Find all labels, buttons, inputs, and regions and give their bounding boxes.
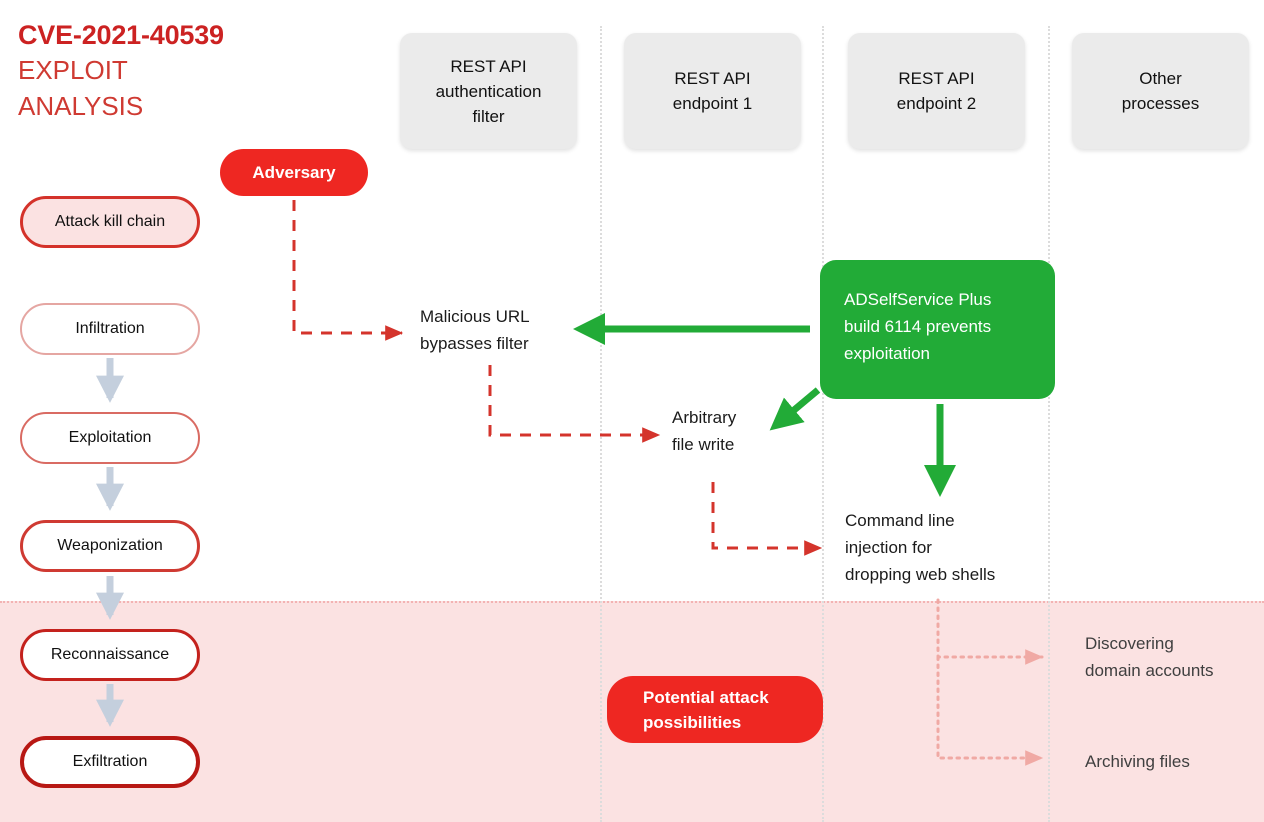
- kill-chain-stage-label: Exploitation: [69, 429, 152, 447]
- green-arrow-mitigation-to-file-write: [775, 390, 818, 426]
- process-box-line-2: endpoint 2: [897, 91, 976, 116]
- mitigation-box-adselfservice-plus[interactable]: ADSelfService Plus build 6114 prevents e…: [820, 260, 1055, 399]
- process-box-line-1: Other: [1122, 66, 1199, 91]
- process-box-line-2: authentication: [436, 79, 542, 104]
- post-exploitation-line-1: Discovering: [1085, 630, 1214, 657]
- adversary-label: Adversary: [252, 163, 335, 183]
- flow-step-line-2: bypasses filter: [420, 330, 530, 357]
- process-box-line-1: REST API: [436, 54, 542, 79]
- kill-chain-stage-label: Infiltration: [75, 320, 144, 338]
- kill-chain-stage-weaponization[interactable]: Weaponization: [20, 520, 200, 572]
- flow-step-line-2: injection for: [845, 534, 995, 561]
- process-box-line-2: processes: [1122, 91, 1199, 116]
- post-exploitation-discovering-domain-accounts: Discovering domain accounts: [1085, 630, 1214, 684]
- process-box-line-1: REST API: [897, 66, 976, 91]
- flow-step-line-1: Arbitrary: [672, 404, 736, 431]
- title-subtitle-two: ANALYSIS: [18, 88, 358, 124]
- flow-step-line-3: dropping web shells: [845, 561, 995, 588]
- post-exploitation-line-2: domain accounts: [1085, 657, 1214, 684]
- process-box-rest-api-authentication-filter[interactable]: REST API authentication filter: [400, 33, 577, 149]
- dashed-arrow-malicious-url-to-file-write: [490, 365, 659, 435]
- adversary-pill[interactable]: Adversary: [220, 149, 368, 196]
- mitigation-line-3: exploitation: [844, 340, 1055, 367]
- lane-divider-3: [1048, 26, 1050, 822]
- lane-divider-1: [600, 26, 602, 822]
- title-cve-id: CVE-2021-40539: [18, 18, 358, 52]
- kill-chain-stage-label: Reconnaissance: [51, 646, 169, 664]
- diagram-canvas: CVE-2021-40539 EXPLOIT ANALYSIS REST API…: [0, 0, 1264, 822]
- flow-step-line-1: Command line: [845, 507, 995, 534]
- process-box-rest-api-endpoint-2[interactable]: REST API endpoint 2: [848, 33, 1025, 149]
- kill-chain-header-pill[interactable]: Attack kill chain: [20, 196, 200, 248]
- mitigation-line-1: ADSelfService Plus: [844, 286, 1055, 313]
- process-box-line-3: filter: [436, 104, 542, 129]
- flow-step-line-2: file write: [672, 431, 736, 458]
- kill-chain-stage-label: Exfiltration: [73, 753, 148, 771]
- flow-step-line-1: Malicious URL: [420, 303, 530, 330]
- process-box-rest-api-endpoint-1[interactable]: REST API endpoint 1: [624, 33, 801, 149]
- process-box-line-1: REST API: [673, 66, 752, 91]
- post-exploitation-archiving-files: Archiving files: [1085, 748, 1190, 775]
- title-subtitle-one: EXPLOIT: [18, 52, 358, 88]
- post-exploitation-line-1: Archiving files: [1085, 748, 1190, 775]
- process-box-other-processes[interactable]: Other processes: [1072, 33, 1249, 149]
- dashed-arrow-adversary-to-malicious-url: [294, 200, 402, 333]
- kill-chain-stage-exfiltration[interactable]: Exfiltration: [20, 736, 200, 788]
- page-title: CVE-2021-40539 EXPLOIT ANALYSIS: [18, 18, 358, 124]
- kill-chain-stage-label: Weaponization: [57, 537, 163, 555]
- flow-step-arbitrary-file-write: Arbitrary file write: [672, 404, 736, 458]
- flow-step-malicious-url-bypasses-filter: Malicious URL bypasses filter: [420, 303, 530, 357]
- mitigation-line-2: build 6114 prevents: [844, 313, 1055, 340]
- kill-chain-stage-exploitation[interactable]: Exploitation: [20, 412, 200, 464]
- process-box-line-2: endpoint 1: [673, 91, 752, 116]
- flow-step-command-line-injection: Command line injection for dropping web …: [845, 507, 995, 588]
- kill-chain-header-label: Attack kill chain: [55, 213, 165, 231]
- potential-attack-label-line-1: Potential attack: [643, 685, 769, 710]
- dashed-arrow-file-write-to-command-injection: [713, 482, 821, 548]
- potential-attack-label-line-2: possibilities: [643, 710, 769, 735]
- kill-chain-stage-infiltration[interactable]: Infiltration: [20, 303, 200, 355]
- potential-attack-possibilities-pill[interactable]: Potential attack possibilities: [607, 676, 823, 743]
- kill-chain-stage-reconnaissance[interactable]: Reconnaissance: [20, 629, 200, 681]
